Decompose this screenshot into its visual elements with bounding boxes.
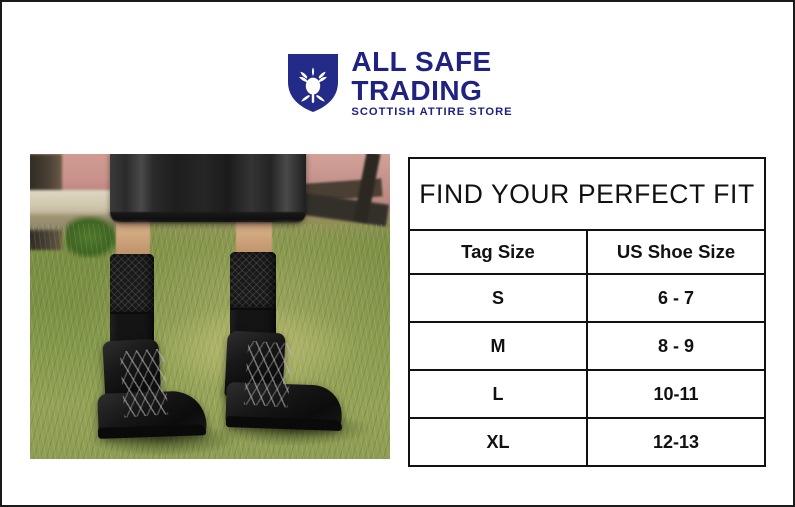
table-row: L 10-11 xyxy=(409,370,765,418)
table-title: FIND YOUR PERFECT FIT xyxy=(409,158,765,230)
cell-us-shoe-size: 6 - 7 xyxy=(587,274,765,322)
table-title-row: FIND YOUR PERFECT FIT xyxy=(409,158,765,230)
photo-right-hose-cuff xyxy=(230,252,276,310)
table-header-row: Tag Size US Shoe Size xyxy=(409,230,765,274)
photo-left-hose-cuff xyxy=(110,254,154,314)
product-photo xyxy=(30,154,390,459)
column-header-tag-size: Tag Size xyxy=(409,230,587,274)
cell-us-shoe-size: 8 - 9 xyxy=(587,322,765,370)
thistle-shield-icon xyxy=(286,52,340,114)
brand-name-line2: TRADING xyxy=(351,77,482,106)
photo-left-boot-laces xyxy=(120,349,168,418)
size-chart-page: ALL SAFE TRADING SCOTTISH ATTIRE STORE xyxy=(0,0,795,507)
cell-us-shoe-size: 10-11 xyxy=(587,370,765,418)
cell-tag-size: L xyxy=(409,370,587,418)
brand-tagline: SCOTTISH ATTIRE STORE xyxy=(351,107,512,118)
cell-us-shoe-size: 12-13 xyxy=(587,418,765,466)
table-row: M 8 - 9 xyxy=(409,322,765,370)
brand-name-line1: ALL SAFE xyxy=(351,48,491,77)
cell-tag-size: XL xyxy=(409,418,587,466)
photo-kilt-hem xyxy=(110,212,306,224)
table-row: S 6 - 7 xyxy=(409,274,765,322)
photo-right-boot-laces xyxy=(244,341,292,408)
cell-tag-size: S xyxy=(409,274,587,322)
brand-logo: ALL SAFE TRADING SCOTTISH ATTIRE STORE xyxy=(2,48,795,118)
column-header-us-shoe-size: US Shoe Size xyxy=(587,230,765,274)
table-row: XL 12-13 xyxy=(409,418,765,466)
cell-tag-size: M xyxy=(409,322,587,370)
size-chart-table: FIND YOUR PERFECT FIT Tag Size US Shoe S… xyxy=(408,157,766,467)
